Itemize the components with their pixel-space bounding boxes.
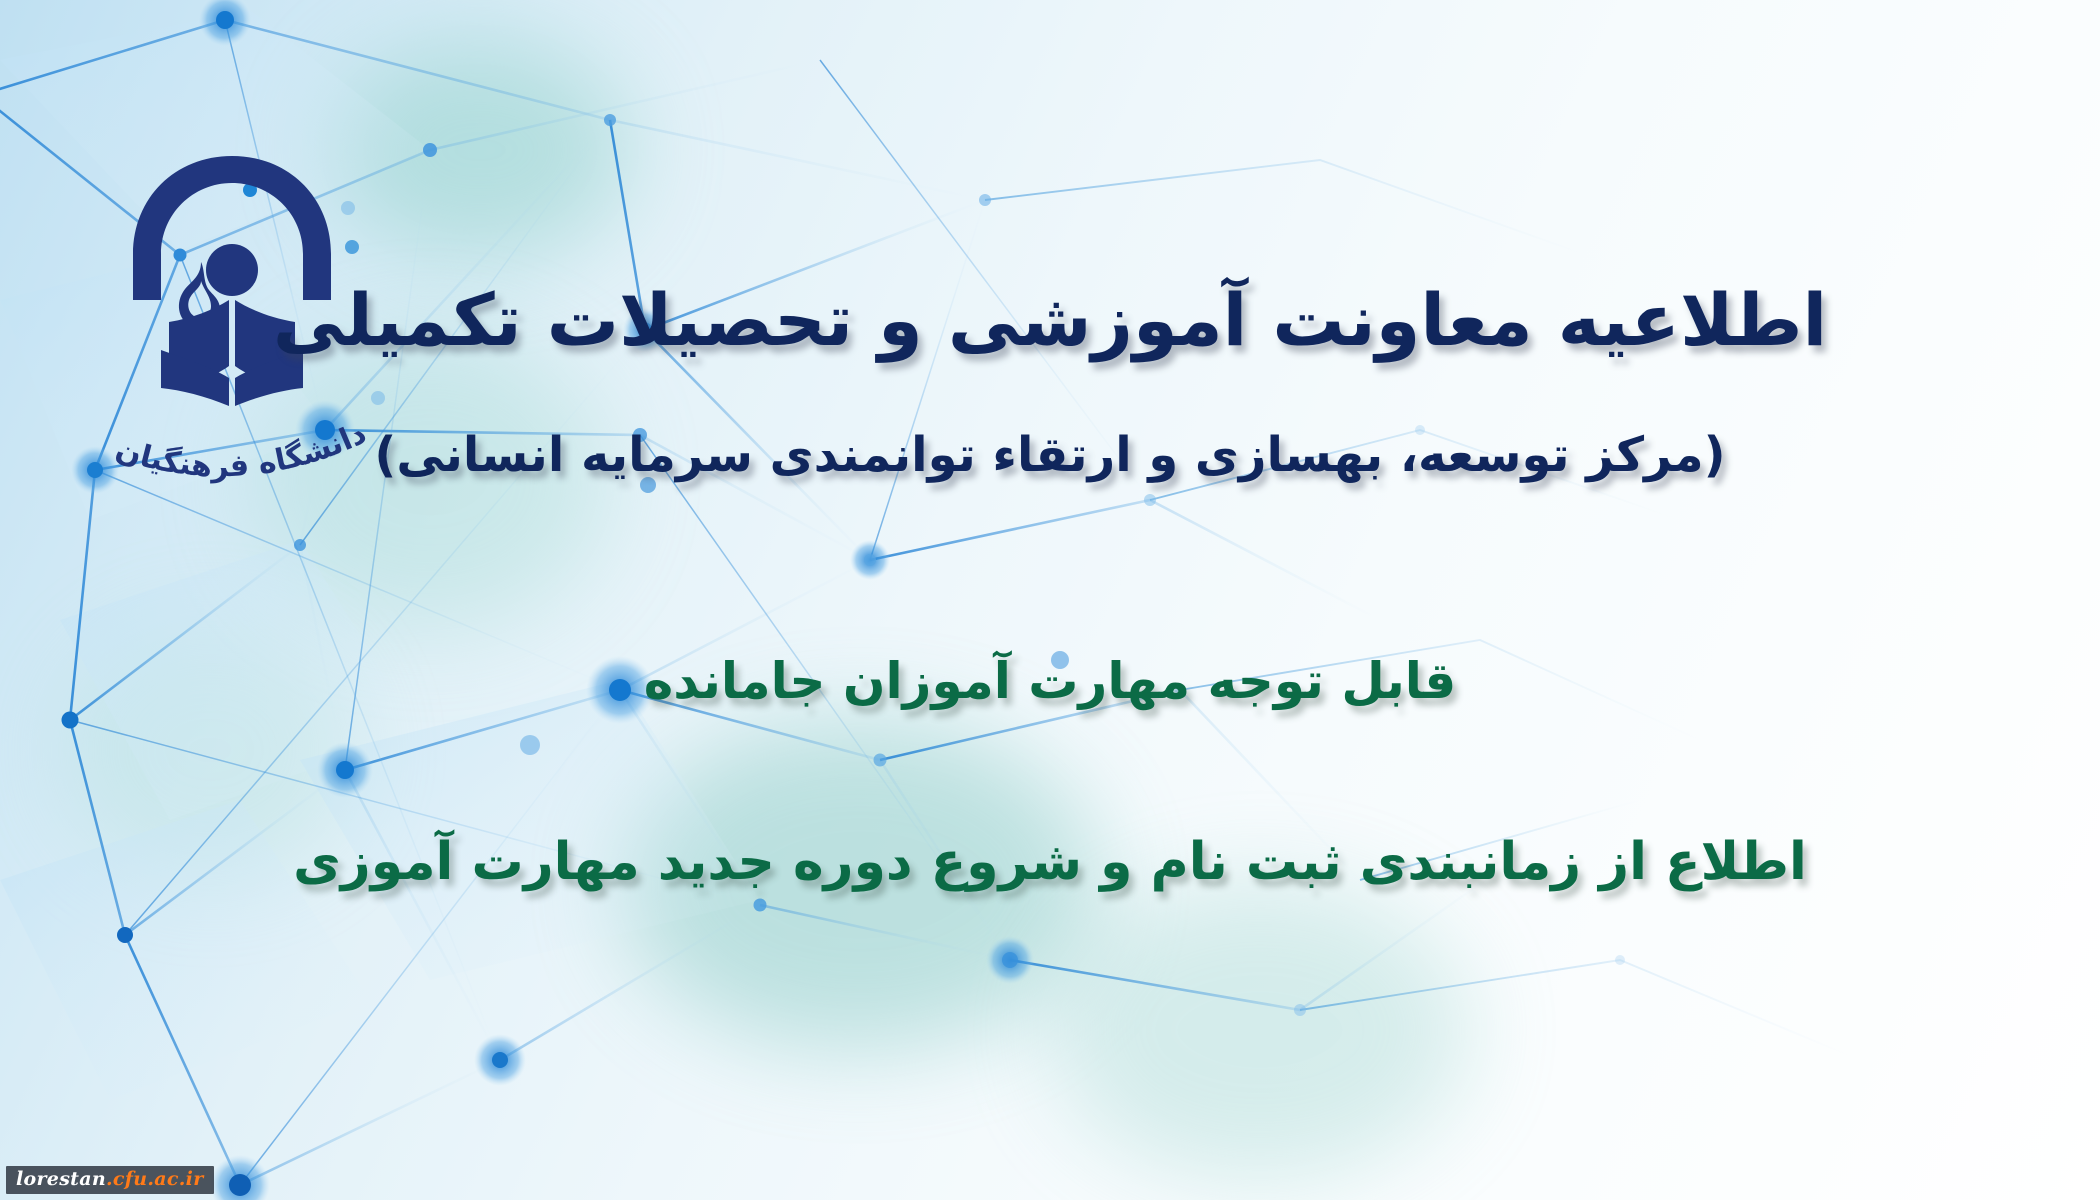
page-subtitle: (مرکز توسعه، بهسازی و ارتقاء توانمندی سر… <box>0 425 2100 485</box>
notice-heading: قابل توجه مهارت آموزان جامانده <box>0 650 2100 713</box>
watermark-accent: .cfu.ac.ir <box>106 1168 204 1190</box>
poster-text-stack: اطلاعیه معاونت آموزشی و تحصیلات تکمیلی (… <box>0 0 2100 1200</box>
watermark-primary: lorestan <box>16 1168 106 1190</box>
page-title: اطلاعیه معاونت آموزشی و تحصیلات تکمیلی <box>0 275 2100 365</box>
site-watermark: lorestan.cfu.ac.ir <box>6 1166 214 1194</box>
info-heading: اطلاع از زمانبندی ثبت نام و شروع دوره جد… <box>0 830 2100 895</box>
announcement-poster: دانشگاه فرهنگیان اطلاعیه معاونت آموزشی و… <box>0 0 2100 1200</box>
